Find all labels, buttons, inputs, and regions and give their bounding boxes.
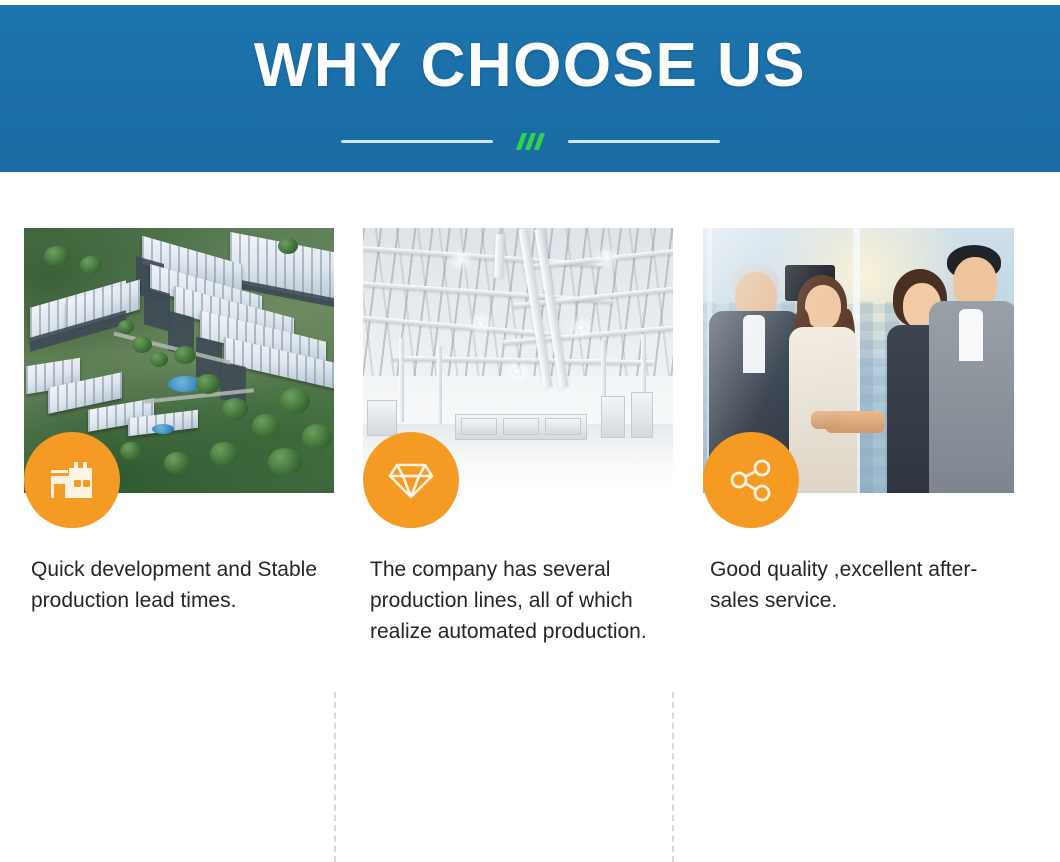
feature-card: Quick development and Stable production … xyxy=(0,172,340,761)
share-network-icon-badge xyxy=(703,432,799,528)
diamond-icon-badge xyxy=(363,432,459,528)
diamond-icon xyxy=(387,458,435,502)
card-caption: The company has several production lines… xyxy=(370,554,662,647)
share-network-icon xyxy=(727,456,775,504)
divider-line-right xyxy=(568,140,720,143)
divider-line-left xyxy=(341,140,493,143)
feature-cards-row: Quick development and Stable production … xyxy=(0,172,1060,761)
column-divider xyxy=(672,692,675,862)
feature-card: Good quality ,excellent after-sales serv… xyxy=(679,172,1019,761)
divider-slash-marks-icon xyxy=(519,132,542,150)
column-divider xyxy=(334,692,337,862)
feature-card: The company has several production lines… xyxy=(339,172,679,761)
factory-icon-badge xyxy=(24,432,120,528)
card-caption: Good quality ,excellent after-sales serv… xyxy=(710,554,1010,616)
page-header-banner: WHY CHOOSE US xyxy=(0,5,1060,172)
card-caption: Quick development and Stable production … xyxy=(31,554,321,616)
page-title: WHY CHOOSE US xyxy=(0,31,1060,101)
factory-icon xyxy=(47,458,97,502)
title-divider xyxy=(0,130,1060,152)
